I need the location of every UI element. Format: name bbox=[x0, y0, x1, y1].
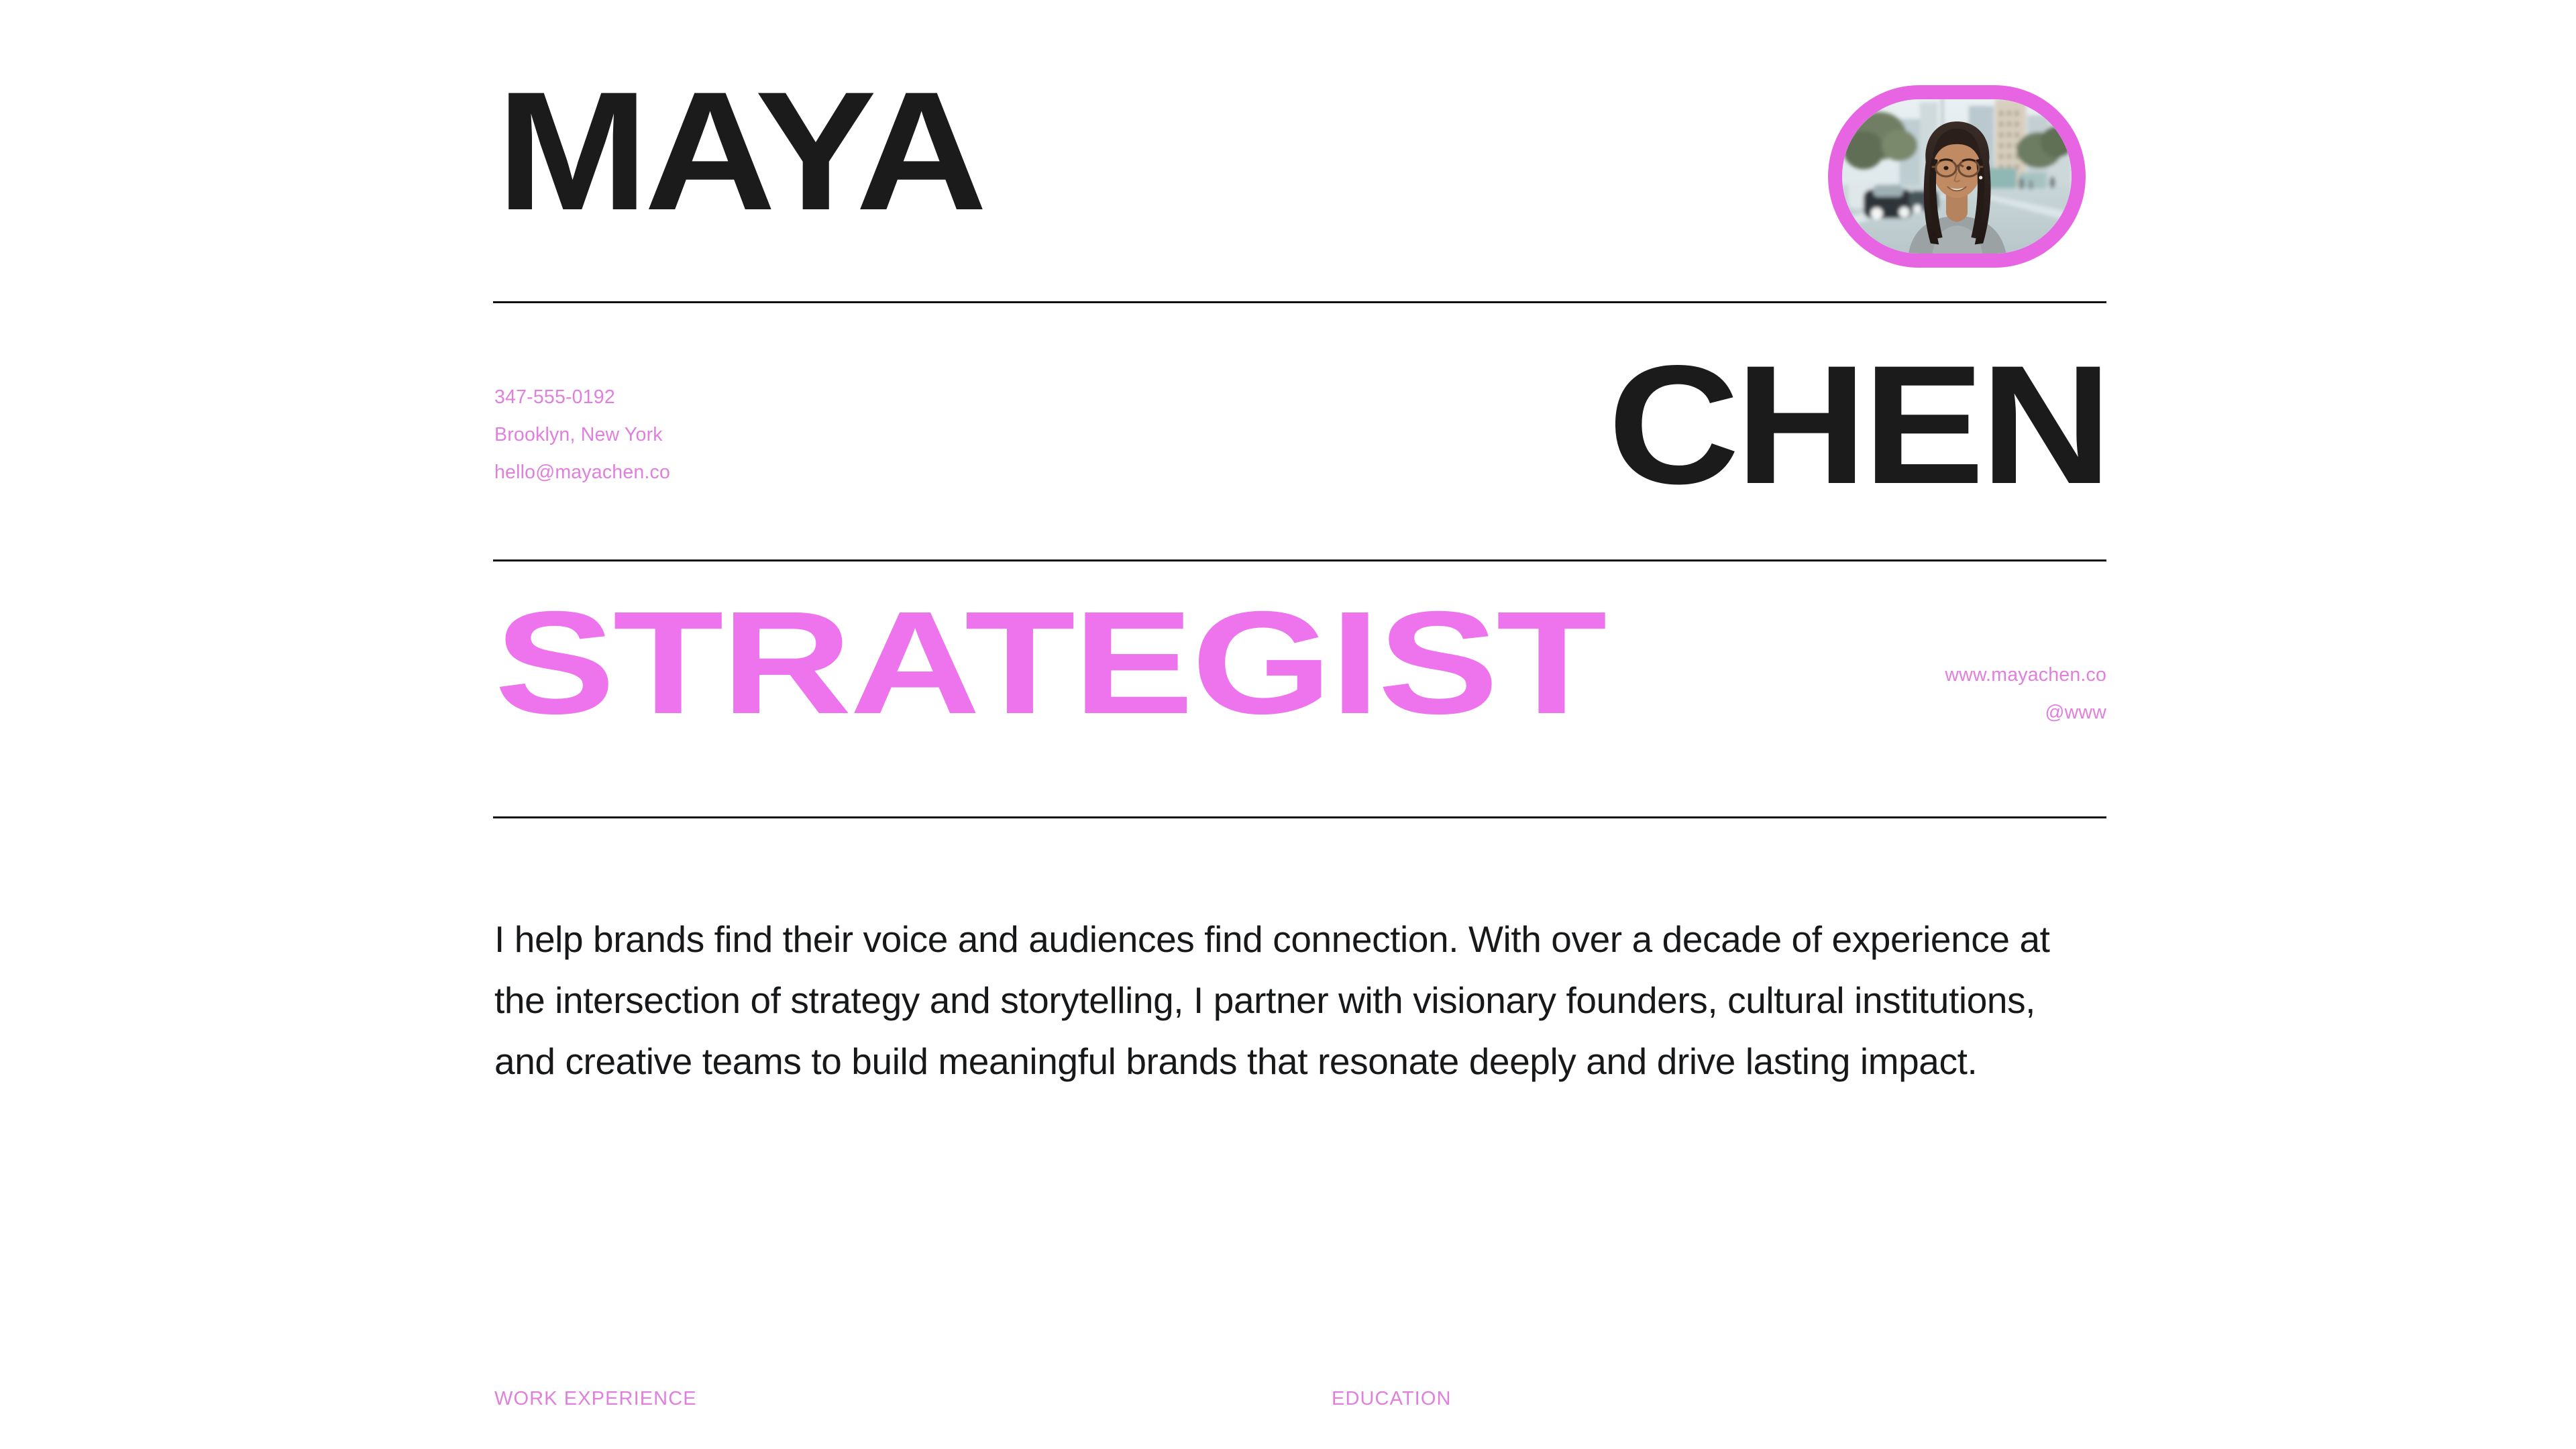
section-label-work-experience: WORK EXPERIENCE bbox=[494, 1387, 697, 1410]
web-links: www.mayachen.co @www bbox=[1945, 656, 2106, 731]
contact-location: Brooklyn, New York bbox=[494, 416, 670, 453]
first-name-heading: MAYA bbox=[496, 67, 983, 236]
social-handle[interactable]: @www bbox=[1945, 694, 2106, 731]
section-label-education: EDUCATION bbox=[1332, 1387, 1452, 1410]
avatar-image bbox=[1842, 99, 2072, 254]
divider-2 bbox=[493, 559, 2106, 561]
avatar bbox=[1828, 85, 2086, 268]
divider-1 bbox=[493, 301, 2106, 303]
resume-page: MAYA bbox=[493, 0, 2106, 1449]
portrait-photo-icon bbox=[1842, 99, 2072, 254]
website-link[interactable]: www.mayachen.co bbox=[1945, 656, 2106, 694]
contact-email[interactable]: hello@mayachen.co bbox=[494, 453, 670, 491]
divider-3 bbox=[493, 816, 2106, 818]
contact-info: 347-555-0192 Brooklyn, New York hello@ma… bbox=[494, 378, 670, 491]
role-heading: STRATEGIST bbox=[494, 590, 1605, 737]
bio-paragraph: I help brands find their voice and audie… bbox=[494, 909, 2098, 1092]
last-name-heading: CHEN bbox=[1608, 341, 2108, 510]
name-photo-row: MAYA bbox=[493, 67, 2106, 275]
contact-phone[interactable]: 347-555-0192 bbox=[494, 378, 670, 416]
